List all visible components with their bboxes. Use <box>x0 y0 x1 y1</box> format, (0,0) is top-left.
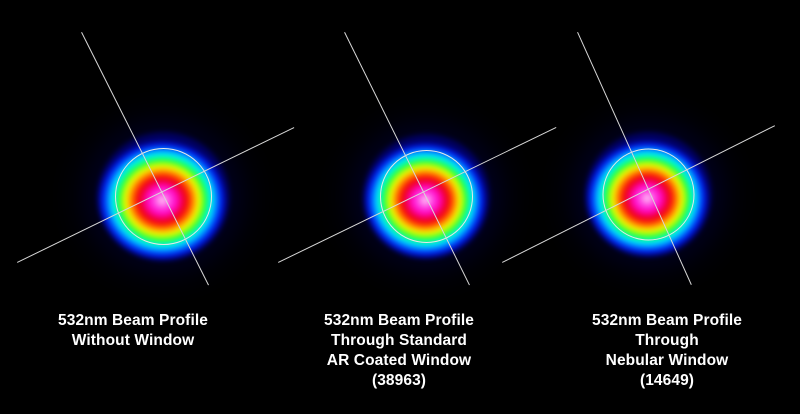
caption-standard-ar-coated-window: 532nm Beam Profile Through Standard AR C… <box>266 311 532 391</box>
caption-line: Without Window <box>0 331 266 351</box>
caption-nebular-window: 532nm Beam Profile Through Nebular Windo… <box>534 311 800 391</box>
caption-line: 532nm Beam Profile <box>534 311 800 331</box>
panel-standard-ar-coated-window: 532nm Beam Profile Through Standard AR C… <box>266 0 532 414</box>
panel-nebular-window: 532nm Beam Profile Through Nebular Windo… <box>534 0 800 414</box>
beam-profile-comparison-figure: 532nm Beam Profile Without Window 532nm … <box>0 0 800 414</box>
panel-without-window: 532nm Beam Profile Without Window <box>0 0 266 414</box>
caption-part-number: (38963) <box>266 371 532 391</box>
caption-line: AR Coated Window <box>266 351 532 371</box>
aperture-circle-overlay <box>602 148 694 240</box>
caption-line: Through Standard <box>266 331 532 351</box>
caption-without-window: 532nm Beam Profile Without Window <box>0 311 266 351</box>
caption-line: Nebular Window <box>534 351 800 371</box>
beam-profile-nebular-window <box>648 194 649 195</box>
caption-part-number: (14649) <box>534 371 800 391</box>
caption-line: 532nm Beam Profile <box>266 311 532 331</box>
caption-line: 532nm Beam Profile <box>0 311 266 331</box>
caption-line: Through <box>534 331 800 351</box>
